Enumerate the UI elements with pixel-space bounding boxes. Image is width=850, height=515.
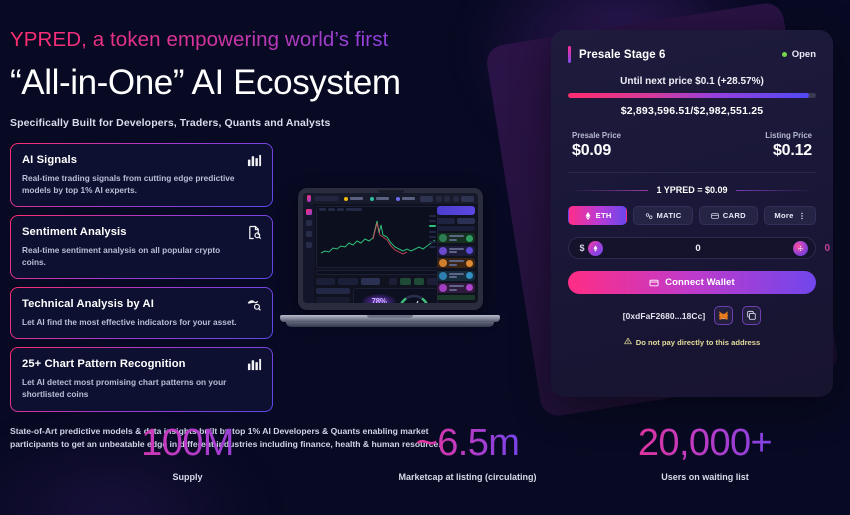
divider [568,172,816,173]
dashboard-search-input [314,196,339,202]
laptop-foot [286,322,494,327]
wallet-address-row: [0xdFaF2680...18Cc] [568,306,816,325]
presale-progress-bar [568,93,816,98]
warning-triangle-icon [624,337,632,347]
dashboard-list-item [437,258,475,268]
laptop-lid: 78% [298,188,483,310]
connect-wallet-label: Connect Wallet [665,277,735,288]
laptop-base [280,315,500,322]
feature-description: Let AI detect most promising chart patte… [22,376,261,400]
ticker-chip [394,196,417,202]
feature-card-ai-signals[interactable]: AI Signals Real-time trading signals fro… [10,143,273,207]
stat-caption: Supply [0,472,375,482]
feature-title: 25+ Chart Pattern Recognition [22,357,261,371]
feature-card-technical-analysis[interactable]: Technical Analysis by AI Let AI find the… [10,287,273,339]
payment-method-card[interactable]: CARD [699,206,758,225]
feature-description: Let AI find the most effective indicator… [22,316,261,328]
rate-line-left [568,190,648,191]
hero-kicker: YPRED, a token empowering world’s first [10,28,480,53]
payment-method-group: ETH MATIC CARD More [568,206,816,225]
presale-stage: Presale Stage 6 [568,46,666,63]
ethereum-coin-icon[interactable] [588,241,603,256]
wallet-address-text: [0xdFaF2680...18Cc] [623,311,705,321]
credit-card-icon [711,212,719,220]
dashboard-cta-button [437,206,475,215]
feature-title: Sentiment Analysis [22,225,261,239]
stat-value: 100M [0,424,375,462]
ticker-chip [368,196,391,202]
page-root: YPRED, a token empowering world’s first … [0,0,850,515]
hero-subhead: Specifically Built for Developers, Trade… [10,117,480,129]
feature-title: Technical Analysis by AI [22,297,261,311]
feature-description: Real-time sentiment analysis on all popu… [22,244,261,268]
currency-symbol: $ [576,243,588,253]
connect-wallet-button[interactable]: Connect Wallet [568,271,816,294]
rate-line-right [736,190,816,191]
presale-progress-fill [568,93,809,98]
dashboard-gauge-panel: 78% [353,288,438,303]
dashboard-logo-icon [307,195,311,202]
dashboard-list-item [437,271,475,281]
dashboard-price-chart [316,206,438,268]
ethereum-icon [584,212,592,220]
kebab-menu-icon [798,212,806,220]
payment-method-label: MATIC [657,211,682,220]
token-rate-label: 1 YPRED = $0.09 [656,185,727,195]
stat-value: ~6.5m [375,424,560,462]
listing-price-block: Listing Price $0.12 [765,131,812,160]
dashboard-right-panel [437,206,475,300]
wallet-icon [649,278,659,288]
dashboard-side-list [316,288,350,303]
presale-raised-amount: $2,893,596.51/$2,982,551.25 [568,105,816,117]
presale-price-value: $0.09 [572,142,621,160]
feature-card-list: AI Signals Real-time trading signals fro… [10,143,273,411]
metamask-fox-icon[interactable] [714,306,733,325]
amount-input-row[interactable]: $ 0 [568,237,816,259]
ticker-chip [342,196,365,202]
dashboard-topbar-actions [420,196,474,202]
presale-price-block: Presale Price $0.09 [572,131,621,160]
dashboard-tab-strip [316,278,438,285]
payment-warning: Do not pay directly to this address [568,337,816,347]
feature-card-chart-pattern-recognition[interactable]: 25+ Chart Pattern Recognition Let AI det… [10,347,273,411]
dashboard-volume-bar [316,270,438,275]
dashboard-list-item [437,233,475,243]
stat-caption: Users on waiting list [560,472,850,482]
stats-row: 100M Supply ~6.5m Marketcap at listing (… [0,424,850,482]
polygon-icon [645,212,653,220]
status-label: Open [792,49,816,60]
presale-widget: Presale Stage 6 Open Until next price $0… [551,30,833,397]
stat-supply: 100M Supply [0,424,375,482]
dashboard-list-item [437,246,475,256]
bar-chart-icon [247,357,262,372]
feature-card-sentiment-analysis[interactable]: Sentiment Analysis Real-time sentiment a… [10,215,273,279]
chart-search-icon [247,297,262,312]
pay-amount-input[interactable] [603,243,793,254]
listing-price-value: $0.12 [765,142,812,160]
payment-method-label: CARD [723,211,746,220]
price-comparison: Presale Price $0.09 Listing Price $0.12 [568,131,816,160]
stat-marketcap: ~6.5m Marketcap at listing (circulating) [375,424,560,482]
warning-text: Do not pay directly to this address [636,338,760,347]
dashboard-sidebar [303,204,314,303]
copy-icon[interactable] [742,306,761,325]
payment-method-label: ETH [596,211,612,220]
payment-method-matic[interactable]: MATIC [633,206,692,225]
ypred-token-icon [793,241,808,256]
laptop-mockup: 78% [280,188,500,330]
document-search-icon [247,225,262,240]
payment-method-label: More [774,211,793,220]
stat-value: 20,000+ [560,424,850,462]
stat-caption: Marketcap at listing (circulating) [375,472,560,482]
until-next-price-label: Until next price $0.1 (+28.57%) [568,76,816,87]
dashboard-list-item [437,283,475,293]
token-rate-row: 1 YPRED = $0.09 [568,185,816,195]
feature-description: Real-time trading signals from cutting e… [22,172,261,196]
gauge-percent-label: 78% [362,294,396,303]
status-dot-icon [782,52,787,57]
presale-header: Presale Stage 6 Open [568,46,816,63]
payment-method-eth[interactable]: ETH [568,206,627,225]
bar-chart-icon [247,153,262,168]
feature-title: AI Signals [22,153,261,167]
presale-price-label: Presale Price [572,131,621,140]
presale-stage-label: Presale Stage 6 [579,49,666,61]
stat-waiting-list: 20,000+ Users on waiting list [560,424,850,482]
dashboard-screenshot: 78% [303,193,478,303]
dashboard-topbar [303,193,478,204]
stage-accent-bar [568,46,571,63]
receive-amount-value: 0 [824,243,830,254]
status-badge: Open [782,49,816,60]
page-title: “All-in-One” AI Ecosystem [10,64,480,102]
payment-method-more[interactable]: More [764,206,816,225]
listing-price-label: Listing Price [765,131,812,140]
